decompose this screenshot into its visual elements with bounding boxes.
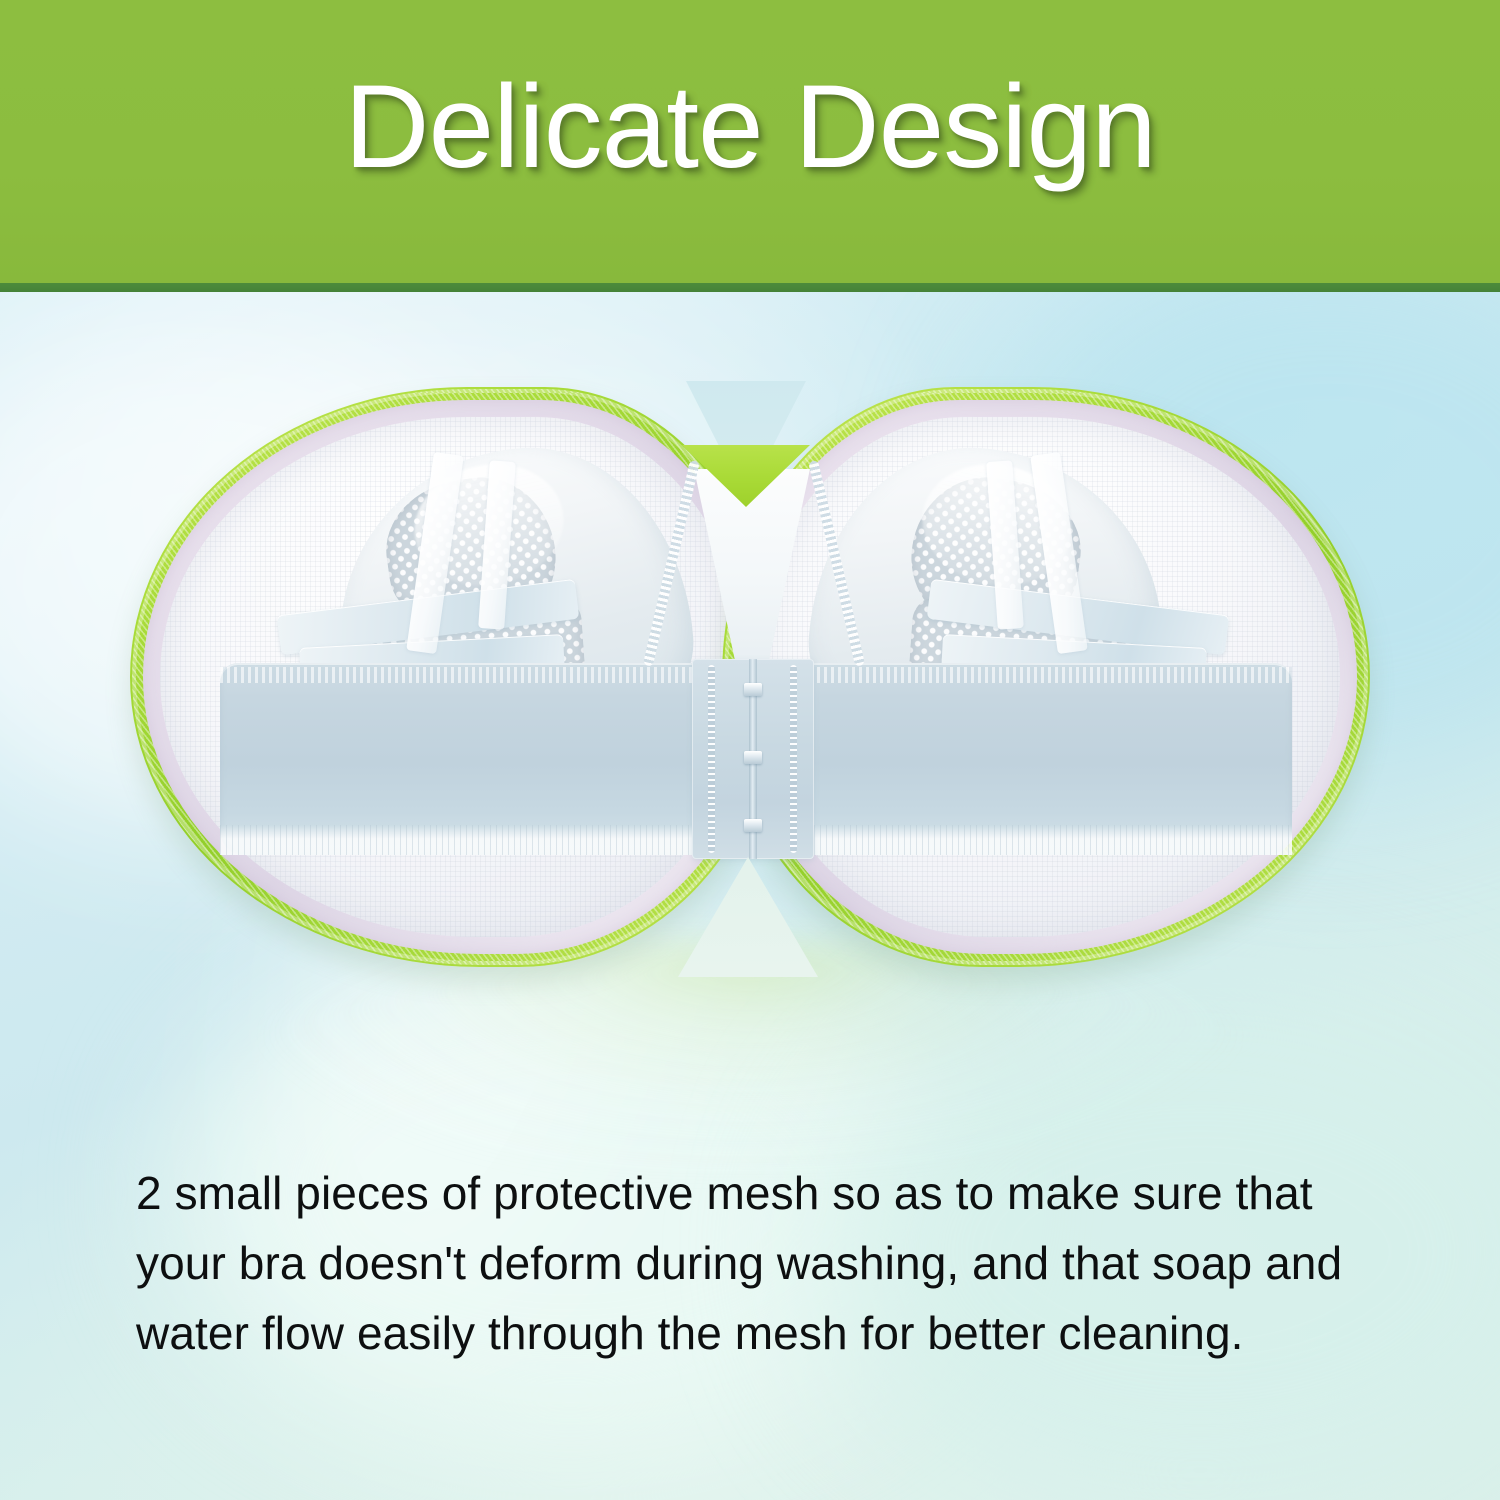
band-elastic-edge-left bbox=[220, 825, 758, 855]
header-banner: Delicate Design bbox=[0, 0, 1500, 283]
header-underline-divider bbox=[0, 283, 1500, 292]
page-title: Delicate Design bbox=[0, 52, 1500, 202]
bra-band-left bbox=[220, 663, 758, 855]
bra-hook-and-eye-closure bbox=[692, 659, 814, 859]
bra-band-right bbox=[754, 663, 1292, 855]
band-top-stitching-left bbox=[220, 667, 758, 683]
closure-eyelet-column-left bbox=[708, 665, 715, 853]
closure-hook-bottom bbox=[744, 819, 762, 832]
product-feature-image: Delicate Design bbox=[0, 0, 1500, 1500]
band-top-stitching-right bbox=[754, 667, 1292, 683]
band-elastic-edge-right bbox=[754, 825, 1292, 855]
closure-hook-top bbox=[744, 683, 762, 696]
closure-hook-middle bbox=[744, 751, 762, 764]
feature-description-text: 2 small pieces of protective mesh so as … bbox=[136, 1158, 1396, 1368]
bra-wash-bag-photo bbox=[130, 387, 1370, 987]
closure-eyelet-column-right bbox=[790, 665, 797, 853]
